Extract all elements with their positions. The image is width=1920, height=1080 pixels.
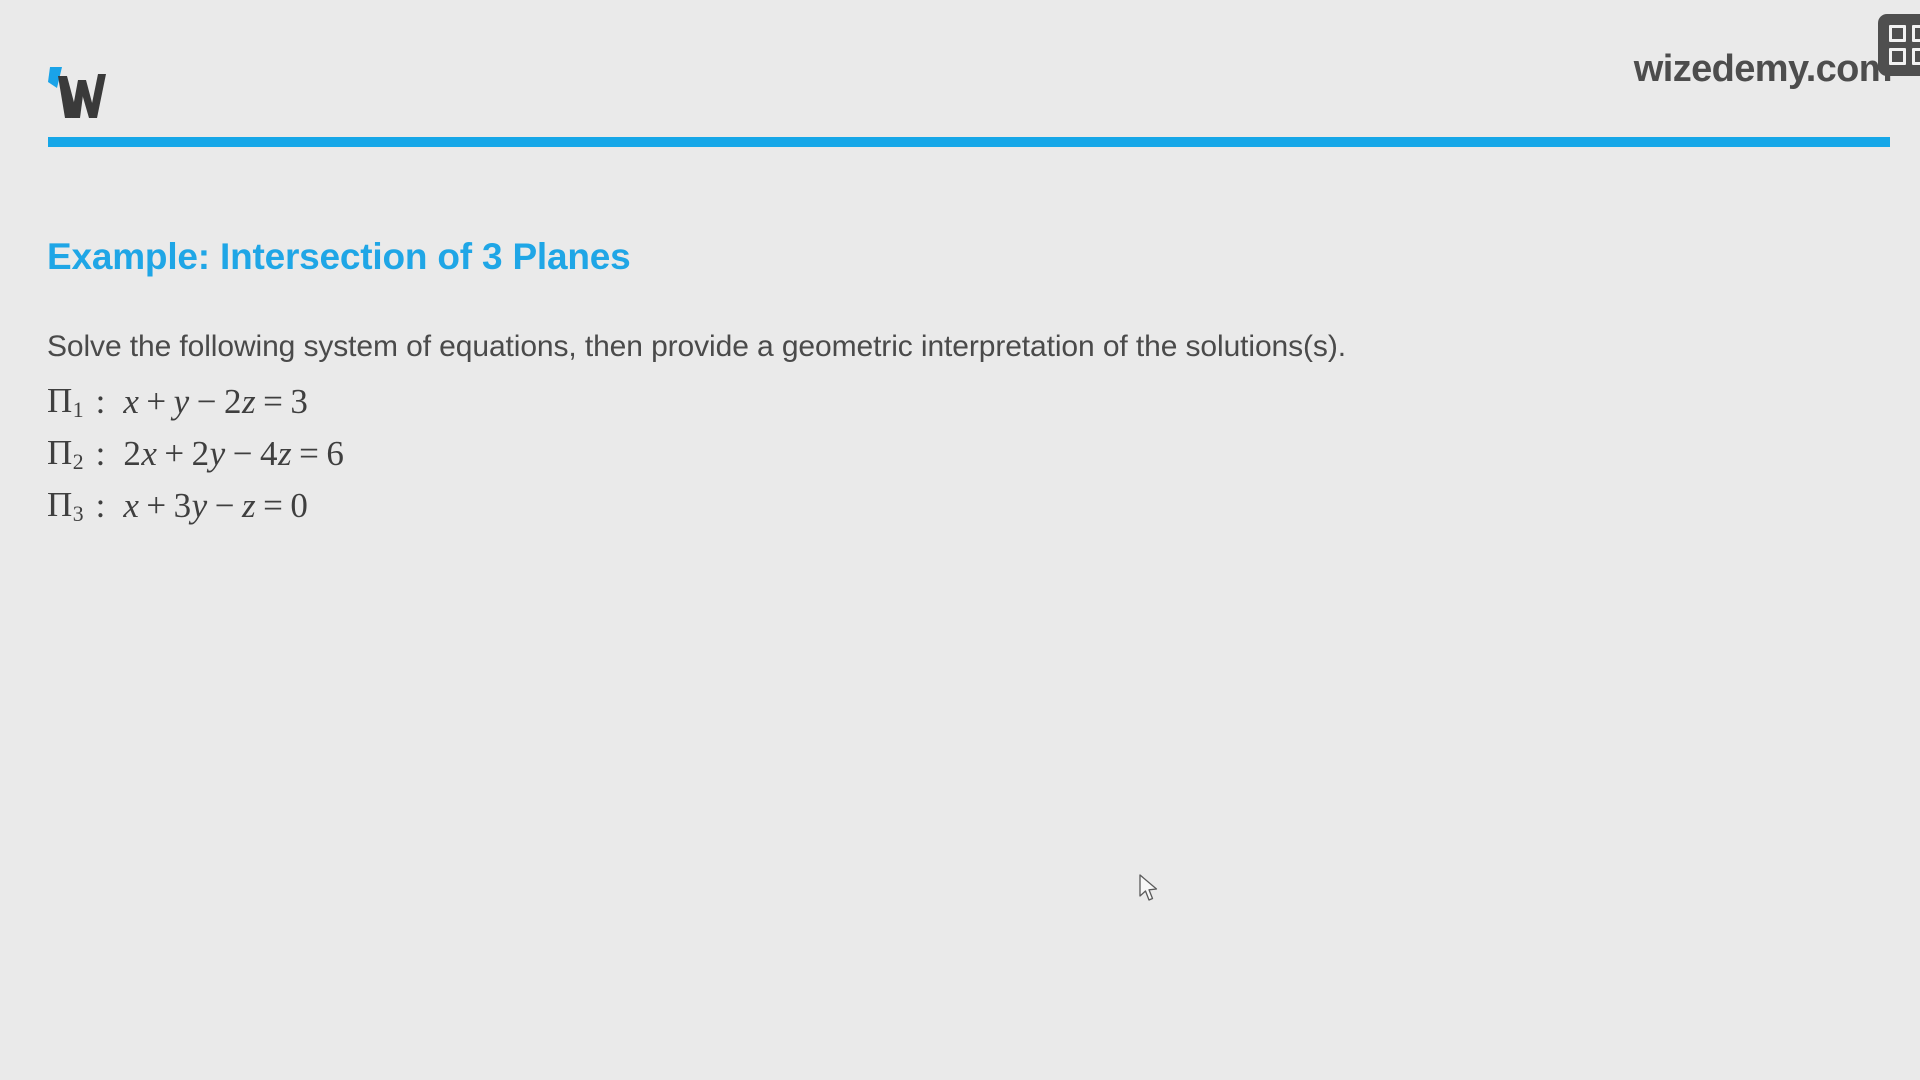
- term-operator: +: [146, 486, 166, 525]
- equation-expression: x+y−2z=3: [123, 382, 308, 422]
- grid-cell: [1889, 25, 1906, 42]
- equals-sign: =: [263, 382, 283, 421]
- plane-label: Π3: [47, 485, 84, 527]
- term-operator: +: [146, 382, 166, 421]
- equals-sign: =: [263, 486, 283, 525]
- grid-cell: [1889, 48, 1906, 65]
- term-variable: x: [123, 382, 139, 421]
- term-variable: y: [192, 486, 208, 525]
- equation-expression: x+3y−z=0: [123, 486, 308, 526]
- wizedemy-w-logo[interactable]: [48, 62, 120, 124]
- page-title: Example: Intersection of 3 Planes: [47, 236, 631, 278]
- term-variable: y: [210, 434, 226, 473]
- equation-colon: :: [96, 434, 106, 474]
- term-operator: +: [164, 434, 184, 473]
- equation-colon: :: [96, 382, 106, 422]
- term-coefficient: 3: [174, 486, 192, 525]
- term-variable: z: [242, 382, 256, 421]
- plane-index: 2: [73, 450, 84, 474]
- term-variable: z: [242, 486, 256, 525]
- equation-expression: 2x+2y−4z=6: [123, 434, 344, 474]
- header-divider: [48, 137, 1890, 147]
- term-coefficient: 2: [192, 434, 210, 473]
- equation-list: Π1 : x+y−2z=3 Π2 : 2x+2y−4z=6 Π3 : x+3y−…: [47, 376, 947, 532]
- site-domain-label: wizedemy.com: [1634, 48, 1892, 91]
- right-hand-side: 3: [290, 382, 308, 421]
- plane-index: 3: [73, 502, 84, 526]
- term-coefficient: 2: [224, 382, 242, 421]
- equation-row: Π3 : x+3y−z=0: [47, 480, 947, 532]
- term-variable: z: [278, 434, 292, 473]
- term-variable: x: [123, 486, 139, 525]
- plane-label: Π2: [47, 433, 84, 475]
- problem-statement: Solve the following system of equations,…: [47, 330, 1346, 364]
- right-hand-side: 6: [326, 434, 344, 473]
- grid-cell: [1912, 48, 1920, 65]
- equals-sign: =: [299, 434, 319, 473]
- equation-row: Π1 : x+y−2z=3: [47, 376, 947, 428]
- term-coefficient: 4: [260, 434, 278, 473]
- equation-colon: :: [96, 486, 106, 526]
- page-header: wizedemy.com: [0, 0, 1920, 148]
- equation-row: Π2 : 2x+2y−4z=6: [47, 428, 947, 480]
- term-operator: −: [215, 486, 235, 525]
- term-variable: x: [141, 434, 157, 473]
- term-operator: −: [197, 382, 217, 421]
- grid-icon[interactable]: [1878, 14, 1920, 76]
- plane-label: Π1: [47, 381, 84, 423]
- right-hand-side: 0: [290, 486, 308, 525]
- term-operator: −: [233, 434, 253, 473]
- term-coefficient: 2: [123, 434, 141, 473]
- grid-cell: [1912, 25, 1920, 42]
- term-variable: y: [174, 382, 190, 421]
- plane-index: 1: [73, 398, 84, 422]
- slide-content: Example: Intersection of 3 Planes Solve …: [0, 148, 1920, 1080]
